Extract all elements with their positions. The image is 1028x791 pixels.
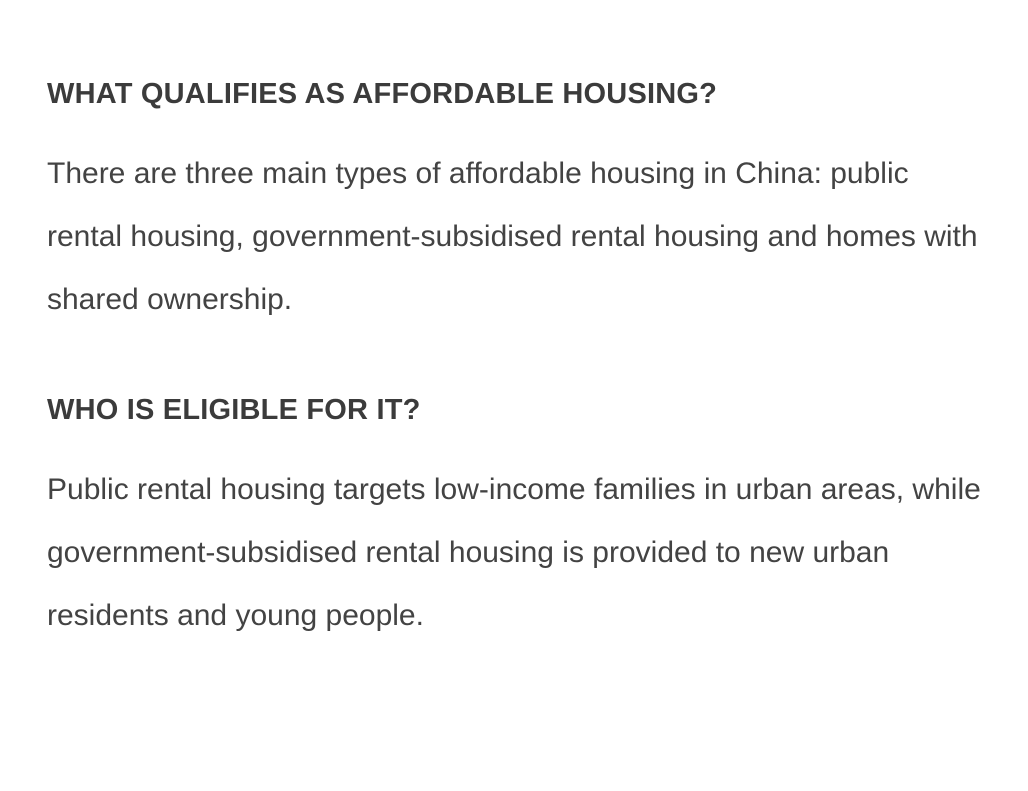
section-paragraph-affordable-housing: There are three main types of affordable… [47,142,988,331]
spacer [47,111,988,142]
article-body: WHAT QUALIFIES AS AFFORDABLE HOUSING? Th… [0,0,1028,791]
section-paragraph-eligibility: Public rental housing targets low-income… [47,458,988,647]
section-heading-affordable-housing: WHAT QUALIFIES AS AFFORDABLE HOUSING? [47,78,988,111]
spacer [47,331,988,394]
section-heading-eligibility: WHO IS ELIGIBLE FOR IT? [47,394,988,427]
spacer [47,428,988,458]
